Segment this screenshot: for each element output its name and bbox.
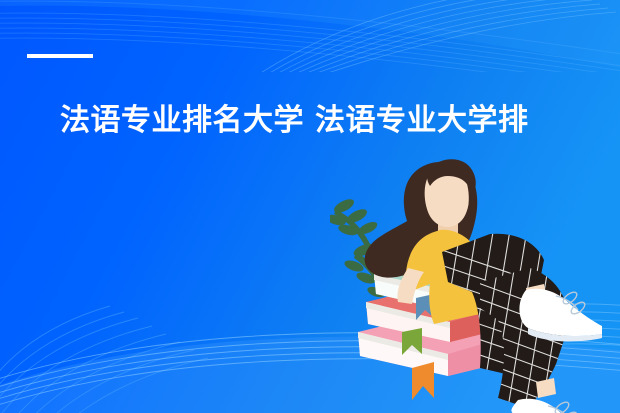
right-sneaker — [511, 399, 594, 413]
seated-figure — [365, 159, 602, 413]
promo-banner: 法语专业排名大学 法语专业大学排 — [0, 0, 620, 413]
bookmark-orange-icon — [412, 362, 434, 400]
left-sneaker — [519, 289, 602, 342]
page-title: 法语专业排名大学 法语专业大学排 — [60, 101, 620, 141]
accent-rule — [27, 54, 93, 58]
hero-illustration — [330, 150, 620, 413]
